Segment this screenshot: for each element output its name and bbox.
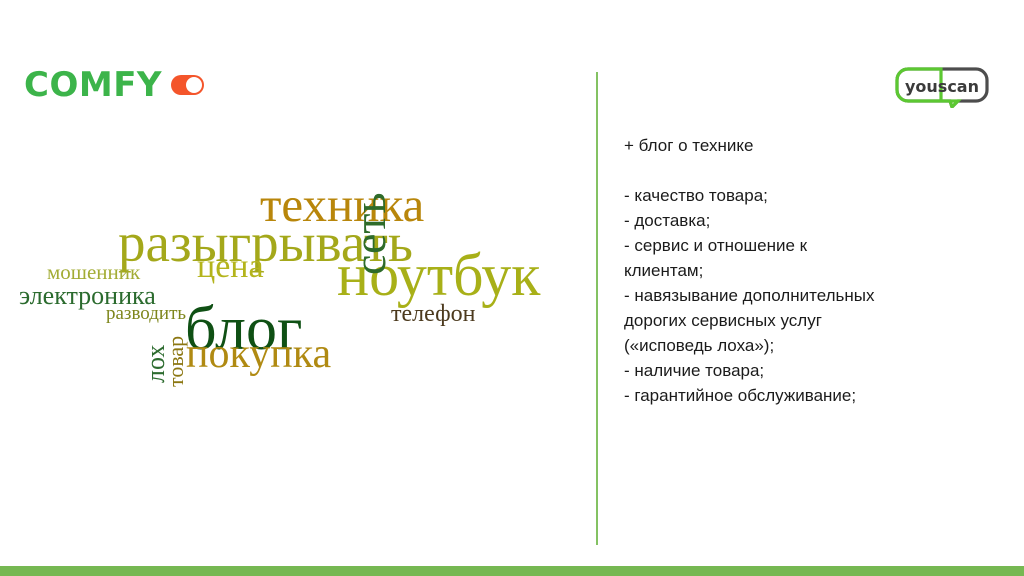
bottom-accent-bar: [0, 566, 1024, 576]
cloud-word-razvodit: разводить: [106, 304, 186, 323]
notes-line: - наличие товара;: [624, 358, 1002, 383]
word-cloud: техника разыгрывать ноутбук цена блог по…: [0, 155, 596, 405]
notes-line: - качество товара;: [624, 183, 1002, 208]
cloud-word-pokupka: покупка: [186, 333, 331, 375]
comfy-logo: COMFY: [24, 68, 204, 102]
vertical-divider: [596, 72, 598, 545]
slide-canvas: COMFY youscan техника разыгрывать ноутбу…: [0, 0, 1024, 576]
notes-line: + блог о технике: [624, 133, 1002, 158]
notes-line: («исповедь лоха»);: [624, 333, 1002, 358]
youscan-wordmark: youscan: [905, 77, 979, 96]
cloud-word-telefon: телефон: [391, 302, 475, 326]
notes-line: - гарантийное обслуживание;: [624, 383, 1002, 408]
cloud-word-tovar: товар: [165, 336, 187, 387]
comfy-toggle-icon: [171, 75, 204, 95]
comfy-wordmark: COMFY: [24, 68, 162, 102]
notes-line: - навязывание дополнительных: [624, 283, 1002, 308]
youscan-logo: youscan: [894, 66, 990, 108]
cloud-word-set: сеть: [347, 193, 393, 275]
notes-line: дорогих сервисных услуг: [624, 308, 1002, 333]
notes-line: - доставка;: [624, 208, 1002, 233]
notes-spacer: [624, 158, 1002, 183]
cloud-word-moshennik: мошенник: [47, 262, 140, 283]
notes-line: - сервис и отношение к: [624, 233, 1002, 258]
notes-line: клиентам;: [624, 258, 1002, 283]
cloud-word-tsena: цена: [197, 250, 264, 284]
youscan-bubble-icon: youscan: [894, 66, 990, 108]
notes-panel: + блог о технике - качество товара; - до…: [624, 133, 1002, 408]
